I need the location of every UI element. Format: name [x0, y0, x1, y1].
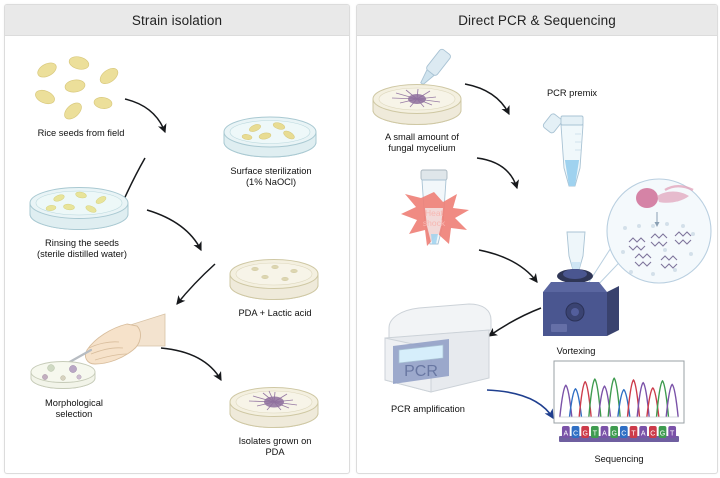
panel-header-direct-pcr: Direct PCR & Sequencing: [357, 5, 717, 36]
svg-text:A: A: [563, 431, 568, 438]
node-vortexing: [527, 232, 623, 344]
node-pcr-amplification: PCR: [371, 300, 499, 400]
microtube-blue-icon: [539, 102, 601, 198]
chromatogram-base-block: T: [591, 426, 599, 438]
svg-text:T: T: [631, 431, 636, 438]
panel-strain-isolation: Strain isolation: [4, 4, 350, 474]
chromatogram-base-block: G: [659, 426, 667, 438]
chromatogram-base-block: A: [639, 426, 647, 438]
chromatogram-base-block: T: [668, 426, 676, 438]
node-heat-shock: Heat shock: [381, 164, 491, 262]
caption-isolates-grown-pda: Isolates grown on PDA: [213, 436, 337, 459]
caption-pcr-amplification: PCR amplification: [363, 404, 493, 415]
figure-root: Strain isolation: [0, 0, 720, 478]
petri-dish-colony-pipette-icon: [365, 48, 483, 130]
caption-morphological-selection: Morphological selection: [11, 398, 137, 421]
caption-fungal-mycelium: A small amount of fungal mycelium: [357, 132, 487, 155]
node-pda-lactic-acid: [223, 248, 325, 306]
svg-text:T: T: [593, 431, 598, 438]
caption-rinsing-seeds: Rinsing the seeds (sterile distilled wat…: [7, 238, 157, 261]
thermocycler-icon: PCR: [371, 300, 499, 400]
panel-body-direct-pcr: A small amount of fungal mycelium PCR pr…: [357, 36, 717, 472]
panel-header-strain-isolation: Strain isolation: [5, 5, 349, 36]
chromatogram-base-block: T: [630, 426, 638, 438]
heat-shock-burst-label-line1: Heat: [425, 208, 444, 218]
panel-body-strain-isolation: Rice seeds from field S: [5, 36, 349, 472]
chromatogram-base-block: C: [572, 426, 580, 438]
caption-vortexing: Vortexing: [525, 346, 627, 357]
chromatogram-base-block: A: [601, 426, 609, 438]
chromatogram-base-block: C: [649, 426, 657, 438]
arrow-selection-to-isolates: [161, 348, 221, 380]
thermocycler-screen-label: PCR: [404, 363, 438, 380]
chromatogram-base-block: G: [610, 426, 618, 438]
chromatogram-base-block: A: [562, 426, 570, 438]
node-rice-seeds: [27, 54, 131, 126]
caption-rice-seeds: Rice seeds from field: [7, 128, 155, 139]
svg-text:C: C: [621, 431, 626, 438]
caption-pda-lactic-acid: PDA + Lactic acid: [213, 308, 337, 319]
petri-dish-blue-icon: [217, 106, 323, 164]
hand-with-loop-icon: [23, 302, 165, 398]
node-surface-sterilization: [217, 106, 323, 164]
vortex-mixer-icon: [527, 232, 623, 344]
petri-dish-blue-icon: [23, 176, 135, 236]
node-fungal-mycelium: [365, 48, 483, 130]
panel-title-strain-isolation: Strain isolation: [132, 13, 222, 28]
caption-surface-sterilization: Surface sterilization (1% NaOCl): [201, 166, 341, 189]
petri-dish-cream-icon: [223, 248, 325, 306]
node-morphological-selection: [23, 302, 165, 398]
caption-sequencing: Sequencing: [553, 454, 685, 465]
svg-text:G: G: [660, 431, 665, 438]
svg-text:T: T: [670, 431, 675, 438]
node-isolates-grown-pda: [223, 376, 325, 434]
chromatogram-base-block: G: [581, 426, 589, 438]
svg-text:G: G: [611, 431, 616, 438]
node-pcr-premix: [539, 102, 601, 198]
node-rinsing-seeds: [23, 176, 135, 236]
svg-text:G: G: [582, 431, 587, 438]
svg-text:C: C: [650, 431, 655, 438]
petri-dish-colony-icon: [223, 376, 325, 434]
tube-heat-burst-icon: Heat shock: [381, 164, 491, 262]
svg-text:C: C: [573, 431, 578, 438]
rice-seeds-cluster-icon: [27, 54, 131, 126]
heat-shock-burst-label-line2: shock: [423, 218, 446, 228]
svg-text:A: A: [641, 431, 646, 438]
svg-text:A: A: [602, 431, 607, 438]
panel-direct-pcr-sequencing: Direct PCR & Sequencing: [356, 4, 718, 474]
caption-pcr-premix: PCR premix: [517, 88, 627, 99]
panel-title-direct-pcr: Direct PCR & Sequencing: [458, 13, 616, 28]
node-sequencing: ACGTAGCTACGT: [553, 360, 685, 450]
chromatogram-icon: ACGTAGCTACGT: [553, 360, 685, 450]
chromatogram-base-block: C: [620, 426, 628, 438]
arrow-pda-to-selection: [177, 264, 215, 304]
